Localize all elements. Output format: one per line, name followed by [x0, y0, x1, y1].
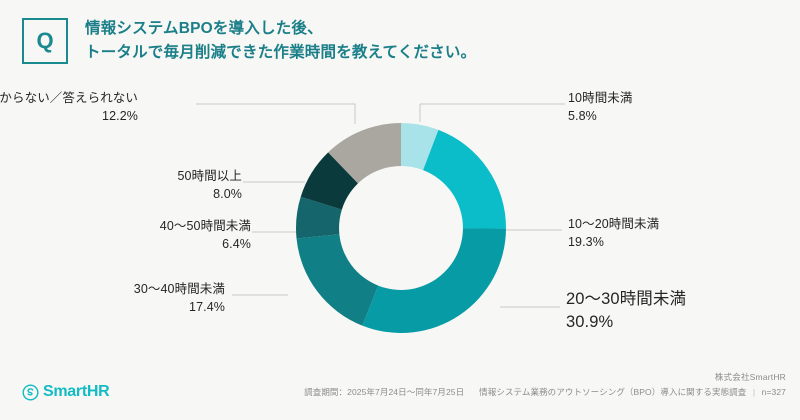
callout-value: 12.2% — [0, 108, 138, 126]
callout-50plus: 50時間以上 8.0% — [177, 168, 242, 204]
footer: SmartHR 株式会社SmartHR 調査期間：2025年7月24日〜同年7月… — [0, 368, 800, 420]
callout-10to20: 10〜20時間未満 19.3% — [568, 216, 659, 252]
survey-period: 調査期間：2025年7月24日〜同年7月25日 — [304, 387, 464, 397]
donut-slice — [423, 130, 506, 229]
donut-slice — [297, 234, 379, 325]
callout-label: 30〜40時間未満 — [134, 281, 225, 299]
smarthr-logo-icon — [22, 384, 39, 401]
callout-label: 50時間以上 — [177, 168, 242, 186]
callout-30to40: 30〜40時間未満 17.4% — [134, 281, 225, 317]
donut-chart: わからない／答えられない 12.2% 50時間以上 8.0% 40〜50時間未満… — [0, 82, 800, 367]
callout-label: 10〜20時間未満 — [568, 216, 659, 234]
callout-value: 6.4% — [160, 236, 251, 254]
callout-20to30: 20〜30時間未満 30.9% — [566, 288, 686, 334]
header: Q 情報システムBPOを導入した後、 トータルで毎月削減できた作業時間を教えてく… — [0, 0, 800, 80]
sample-size: n=327 — [762, 387, 786, 397]
callout-label: 10時間未満 — [568, 90, 633, 108]
callout-value: 19.3% — [568, 234, 659, 252]
callout-value: 8.0% — [177, 186, 242, 204]
donut-graphic — [295, 122, 507, 334]
callout-value: 30.9% — [566, 311, 686, 334]
callout-value: 17.4% — [134, 299, 225, 317]
callout-value: 5.8% — [568, 108, 633, 126]
chart-page: Q 情報システムBPOを導入した後、 トータルで毎月削減できた作業時間を教えてく… — [0, 0, 800, 420]
callout-dontknow: わからない／答えられない 12.2% — [0, 90, 138, 126]
company-name: 株式会社SmartHR — [715, 371, 786, 383]
survey-name: 情報システム業務のアウトソーシング（BPO）導入に関する実態調査 — [479, 387, 746, 397]
donut-svg — [295, 122, 507, 334]
survey-meta: 調査期間：2025年7月24日〜同年7月25日 情報システム業務のアウトソーシン… — [304, 386, 786, 398]
page-title: 情報システムBPOを導入した後、 トータルで毎月削減できた作業時間を教えてくださ… — [85, 17, 476, 65]
donut-slice — [362, 228, 506, 333]
leader-dontknow — [196, 104, 355, 124]
smarthr-logo-text: SmartHR — [43, 383, 109, 401]
callout-label: わからない／答えられない — [0, 90, 138, 108]
smarthr-logo: SmartHR — [22, 383, 109, 401]
callout-40to50: 40〜50時間未満 6.4% — [160, 218, 251, 254]
callout-label: 20〜30時間未満 — [566, 288, 686, 311]
survey-separator: | — [749, 387, 759, 397]
question-badge: Q — [22, 18, 68, 64]
leader-under10 — [420, 104, 565, 122]
callout-under10: 10時間未満 5.8% — [568, 90, 633, 126]
callout-label: 40〜50時間未満 — [160, 218, 251, 236]
